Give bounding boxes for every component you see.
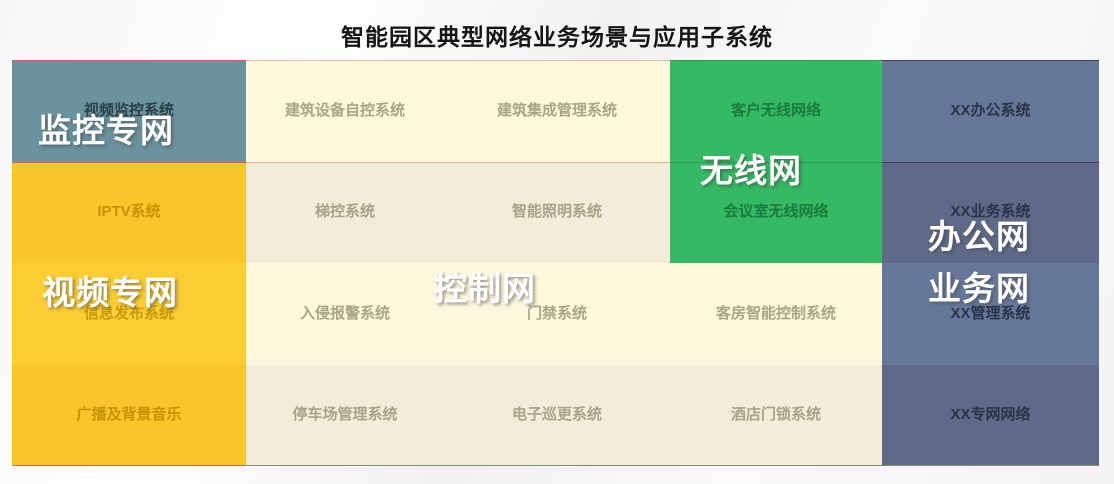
matrix-column-wireless: 客户无线网络 会议室无线网络 客房智能控制系统 酒店门锁系统 — [670, 60, 882, 466]
matrix-cell[interactable]: 门禁系统 — [444, 263, 670, 365]
matrix-cell-label: XX管理系统 — [950, 305, 1030, 323]
matrix-cell[interactable]: 酒店门锁系统 — [670, 365, 882, 467]
matrix-cell-label: 梯控系统 — [315, 203, 375, 221]
matrix-cell[interactable]: XX办公系统 — [882, 60, 1099, 162]
matrix-cell[interactable]: 建筑设备自控系统 — [246, 60, 444, 162]
page-title: 智能园区典型网络业务场景与应用子系统 — [0, 18, 1114, 52]
matrix-cell-label: 客房智能控制系统 — [716, 305, 836, 323]
matrix-cell[interactable]: 客户无线网络 — [670, 60, 882, 162]
matrix-cell[interactable]: 会议室无线网络 — [670, 162, 882, 264]
matrix-cell[interactable]: XX管理系统 — [882, 263, 1099, 365]
matrix-cell[interactable]: 视频监控系统 — [12, 60, 246, 162]
matrix-cell[interactable]: 广播及背景音乐 — [12, 365, 246, 467]
matrix-cell-label: 视频监控系统 — [84, 102, 174, 120]
matrix-cell-label: 电子巡更系统 — [512, 406, 602, 424]
matrix-cell[interactable]: XX业务系统 — [882, 162, 1099, 264]
matrix-cell[interactable]: 客房智能控制系统 — [670, 263, 882, 365]
matrix-cell[interactable]: IPTV系统 — [12, 162, 246, 264]
matrix-cell-label: 建筑集成管理系统 — [497, 102, 617, 120]
matrix-cell[interactable]: 入侵报警系统 — [246, 263, 444, 365]
network-matrix: 视频监控系统 IPTV系统 信息发布系统 广播及背景音乐 建筑设备自控系统 梯控… — [12, 60, 1099, 466]
matrix-cell-label: 客户无线网络 — [731, 102, 821, 120]
matrix-column-building-control: 建筑设备自控系统 梯控系统 入侵报警系统 停车场管理系统 — [246, 60, 444, 466]
matrix-cell[interactable]: XX专网网络 — [882, 365, 1099, 467]
matrix-cell-label: 信息发布系统 — [84, 305, 174, 323]
matrix-column-video: 视频监控系统 IPTV系统 信息发布系统 广播及背景音乐 — [12, 60, 246, 466]
matrix-cell-label: 门禁系统 — [527, 305, 587, 323]
matrix-cell-label: IPTV系统 — [97, 203, 160, 221]
matrix-cell-label: 智能照明系统 — [512, 203, 602, 221]
matrix-cell-label: 酒店门锁系统 — [731, 406, 821, 424]
matrix-cell[interactable]: 梯控系统 — [246, 162, 444, 264]
matrix-cell[interactable]: 建筑集成管理系统 — [444, 60, 670, 162]
matrix-column-integration: 建筑集成管理系统 智能照明系统 门禁系统 电子巡更系统 — [444, 60, 670, 466]
matrix-cell-label: XX办公系统 — [950, 102, 1030, 120]
matrix-cell-label: 停车场管理系统 — [292, 406, 397, 424]
matrix-cell-label: XX专网网络 — [950, 406, 1030, 424]
matrix-cell-label: 广播及背景音乐 — [76, 406, 181, 424]
matrix-cell[interactable]: 电子巡更系统 — [444, 365, 670, 467]
matrix-cell-label: XX业务系统 — [950, 203, 1030, 221]
matrix-cell[interactable]: 智能照明系统 — [444, 162, 670, 264]
matrix-cell-label: 建筑设备自控系统 — [285, 102, 405, 120]
matrix-cell-label: 入侵报警系统 — [300, 305, 390, 323]
matrix-column-office: XX办公系统 XX业务系统 XX管理系统 XX专网网络 — [882, 60, 1099, 466]
matrix-cell[interactable]: 信息发布系统 — [12, 263, 246, 365]
matrix-cell[interactable]: 停车场管理系统 — [246, 365, 444, 467]
matrix-cell-label: 会议室无线网络 — [723, 203, 828, 221]
